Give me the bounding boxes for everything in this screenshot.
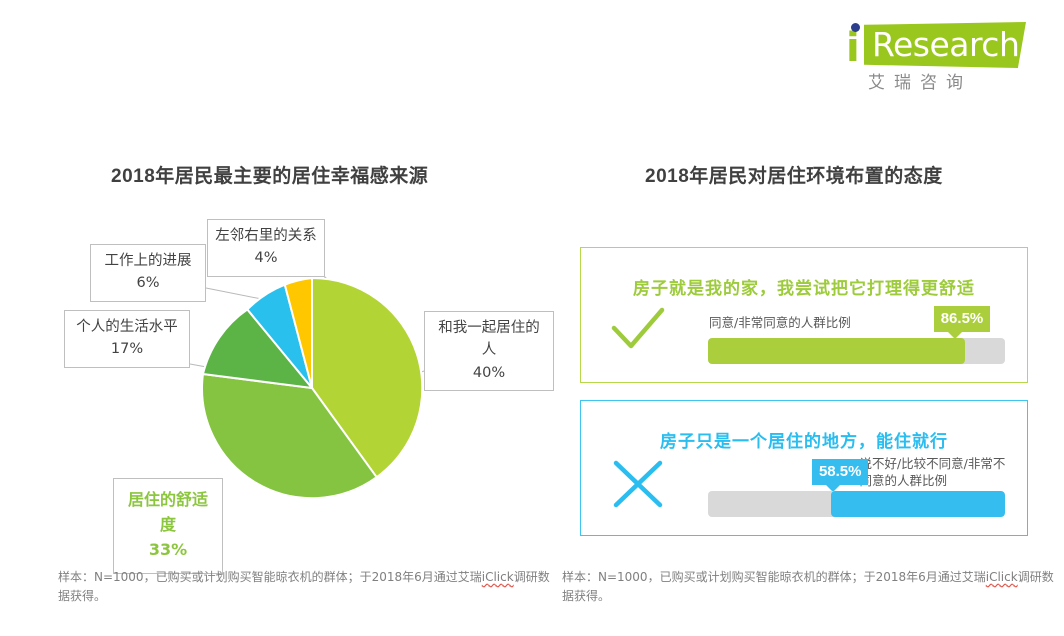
pie-label-comfort-text: 居住的舒适度 bbox=[128, 490, 208, 534]
logo-wordmark: Research bbox=[872, 25, 1019, 65]
left-footnote: 样本：N=1000，已购买或计划购买智能晾衣机的群体；于2018年6月通过艾瑞i… bbox=[58, 568, 550, 605]
pie-label-work-text: 工作上的进展 bbox=[105, 253, 192, 269]
right-footnote-link: iClick bbox=[986, 570, 1018, 584]
pie-label-work-value: 6% bbox=[98, 272, 198, 294]
negative-bar-track bbox=[708, 491, 1005, 517]
pie-label-living-value: 17% bbox=[72, 338, 182, 360]
attitude-card-positive-headline: 房子就是我的家，我尝试把它打理得更舒适 bbox=[581, 274, 1027, 299]
positive-bar-area: 同意/非常同意的人群比例 86.5% bbox=[708, 302, 1005, 364]
positive-bar-caption: 同意/非常同意的人群比例 bbox=[709, 315, 851, 332]
positive-bar-fill bbox=[708, 338, 965, 364]
pie-label-comfort: 居住的舒适度 33% bbox=[113, 478, 223, 574]
attitude-card-negative-headline: 房子只是一个居住的地方，能住就行 bbox=[581, 427, 1027, 452]
iresearch-logo: i Research 艾瑞咨询 bbox=[842, 10, 1032, 92]
negative-bar-caption: 说不好/比较不同意/非常不同意的人群比例 bbox=[859, 456, 1009, 490]
negative-value-bubble: 58.5% bbox=[812, 459, 869, 485]
logo-i-letter: i bbox=[846, 28, 860, 68]
positive-value-bubble: 86.5% bbox=[934, 306, 991, 332]
slide-root: i Research 艾瑞咨询 2018年居民最主要的居住幸福感来源 2018年… bbox=[0, 0, 1064, 636]
left-panel-title: 2018年居民最主要的居住幸福感来源 bbox=[111, 161, 428, 188]
left-footnote-link: iClick bbox=[482, 570, 514, 584]
pie-label-neighbor-text: 左邻右里的关系 bbox=[215, 228, 317, 244]
attitude-card-negative: 房子只是一个居住的地方，能住就行 说不好/比较不同意/非常不同意的人群比例 58… bbox=[580, 400, 1028, 536]
pie-label-together-value: 40% bbox=[432, 362, 546, 384]
pie-label-comfort-value: 33% bbox=[121, 538, 215, 563]
pie-label-together: 和我一起居住的人 40% bbox=[424, 311, 554, 391]
pie-label-neighbor-value: 4% bbox=[215, 247, 317, 269]
pie-slices bbox=[202, 278, 422, 498]
attitude-card-positive: 房子就是我的家，我尝试把它打理得更舒适 同意/非常同意的人群比例 86.5% bbox=[580, 247, 1028, 383]
negative-bar-fill bbox=[831, 491, 1005, 517]
pie-label-neighbor: 左邻右里的关系 4% bbox=[207, 219, 325, 277]
check-icon bbox=[609, 304, 667, 356]
right-footnote-pre: 样本：N=1000，已购买或计划购买智能晾衣机的群体；于2018年6月通过艾瑞 bbox=[562, 570, 986, 584]
pie-chart-region: 左邻右里的关系 4% 工作上的进展 6% 个人的生活水平 17% 和我一起居住的… bbox=[55, 205, 555, 555]
pie-label-work: 工作上的进展 6% bbox=[90, 244, 206, 302]
negative-bar-area: 说不好/比较不同意/非常不同意的人群比例 58.5% bbox=[708, 455, 1005, 517]
pie-label-living: 个人的生活水平 17% bbox=[64, 310, 190, 368]
cross-icon bbox=[609, 457, 667, 509]
right-panel-title: 2018年居民对居住环境布置的态度 bbox=[645, 161, 943, 188]
logo-i-dot-icon bbox=[851, 23, 860, 32]
positive-bar-track bbox=[708, 338, 1005, 364]
left-footnote-pre: 样本：N=1000，已购买或计划购买智能晾衣机的群体；于2018年6月通过艾瑞 bbox=[58, 570, 482, 584]
pie-label-living-text: 个人的生活水平 bbox=[76, 319, 178, 335]
pie-label-together-text: 和我一起居住的人 bbox=[438, 320, 540, 358]
right-footnote: 样本：N=1000，已购买或计划购买智能晾衣机的群体；于2018年6月通过艾瑞i… bbox=[562, 568, 1054, 605]
logo-chinese-name: 艾瑞咨询 bbox=[868, 68, 972, 93]
